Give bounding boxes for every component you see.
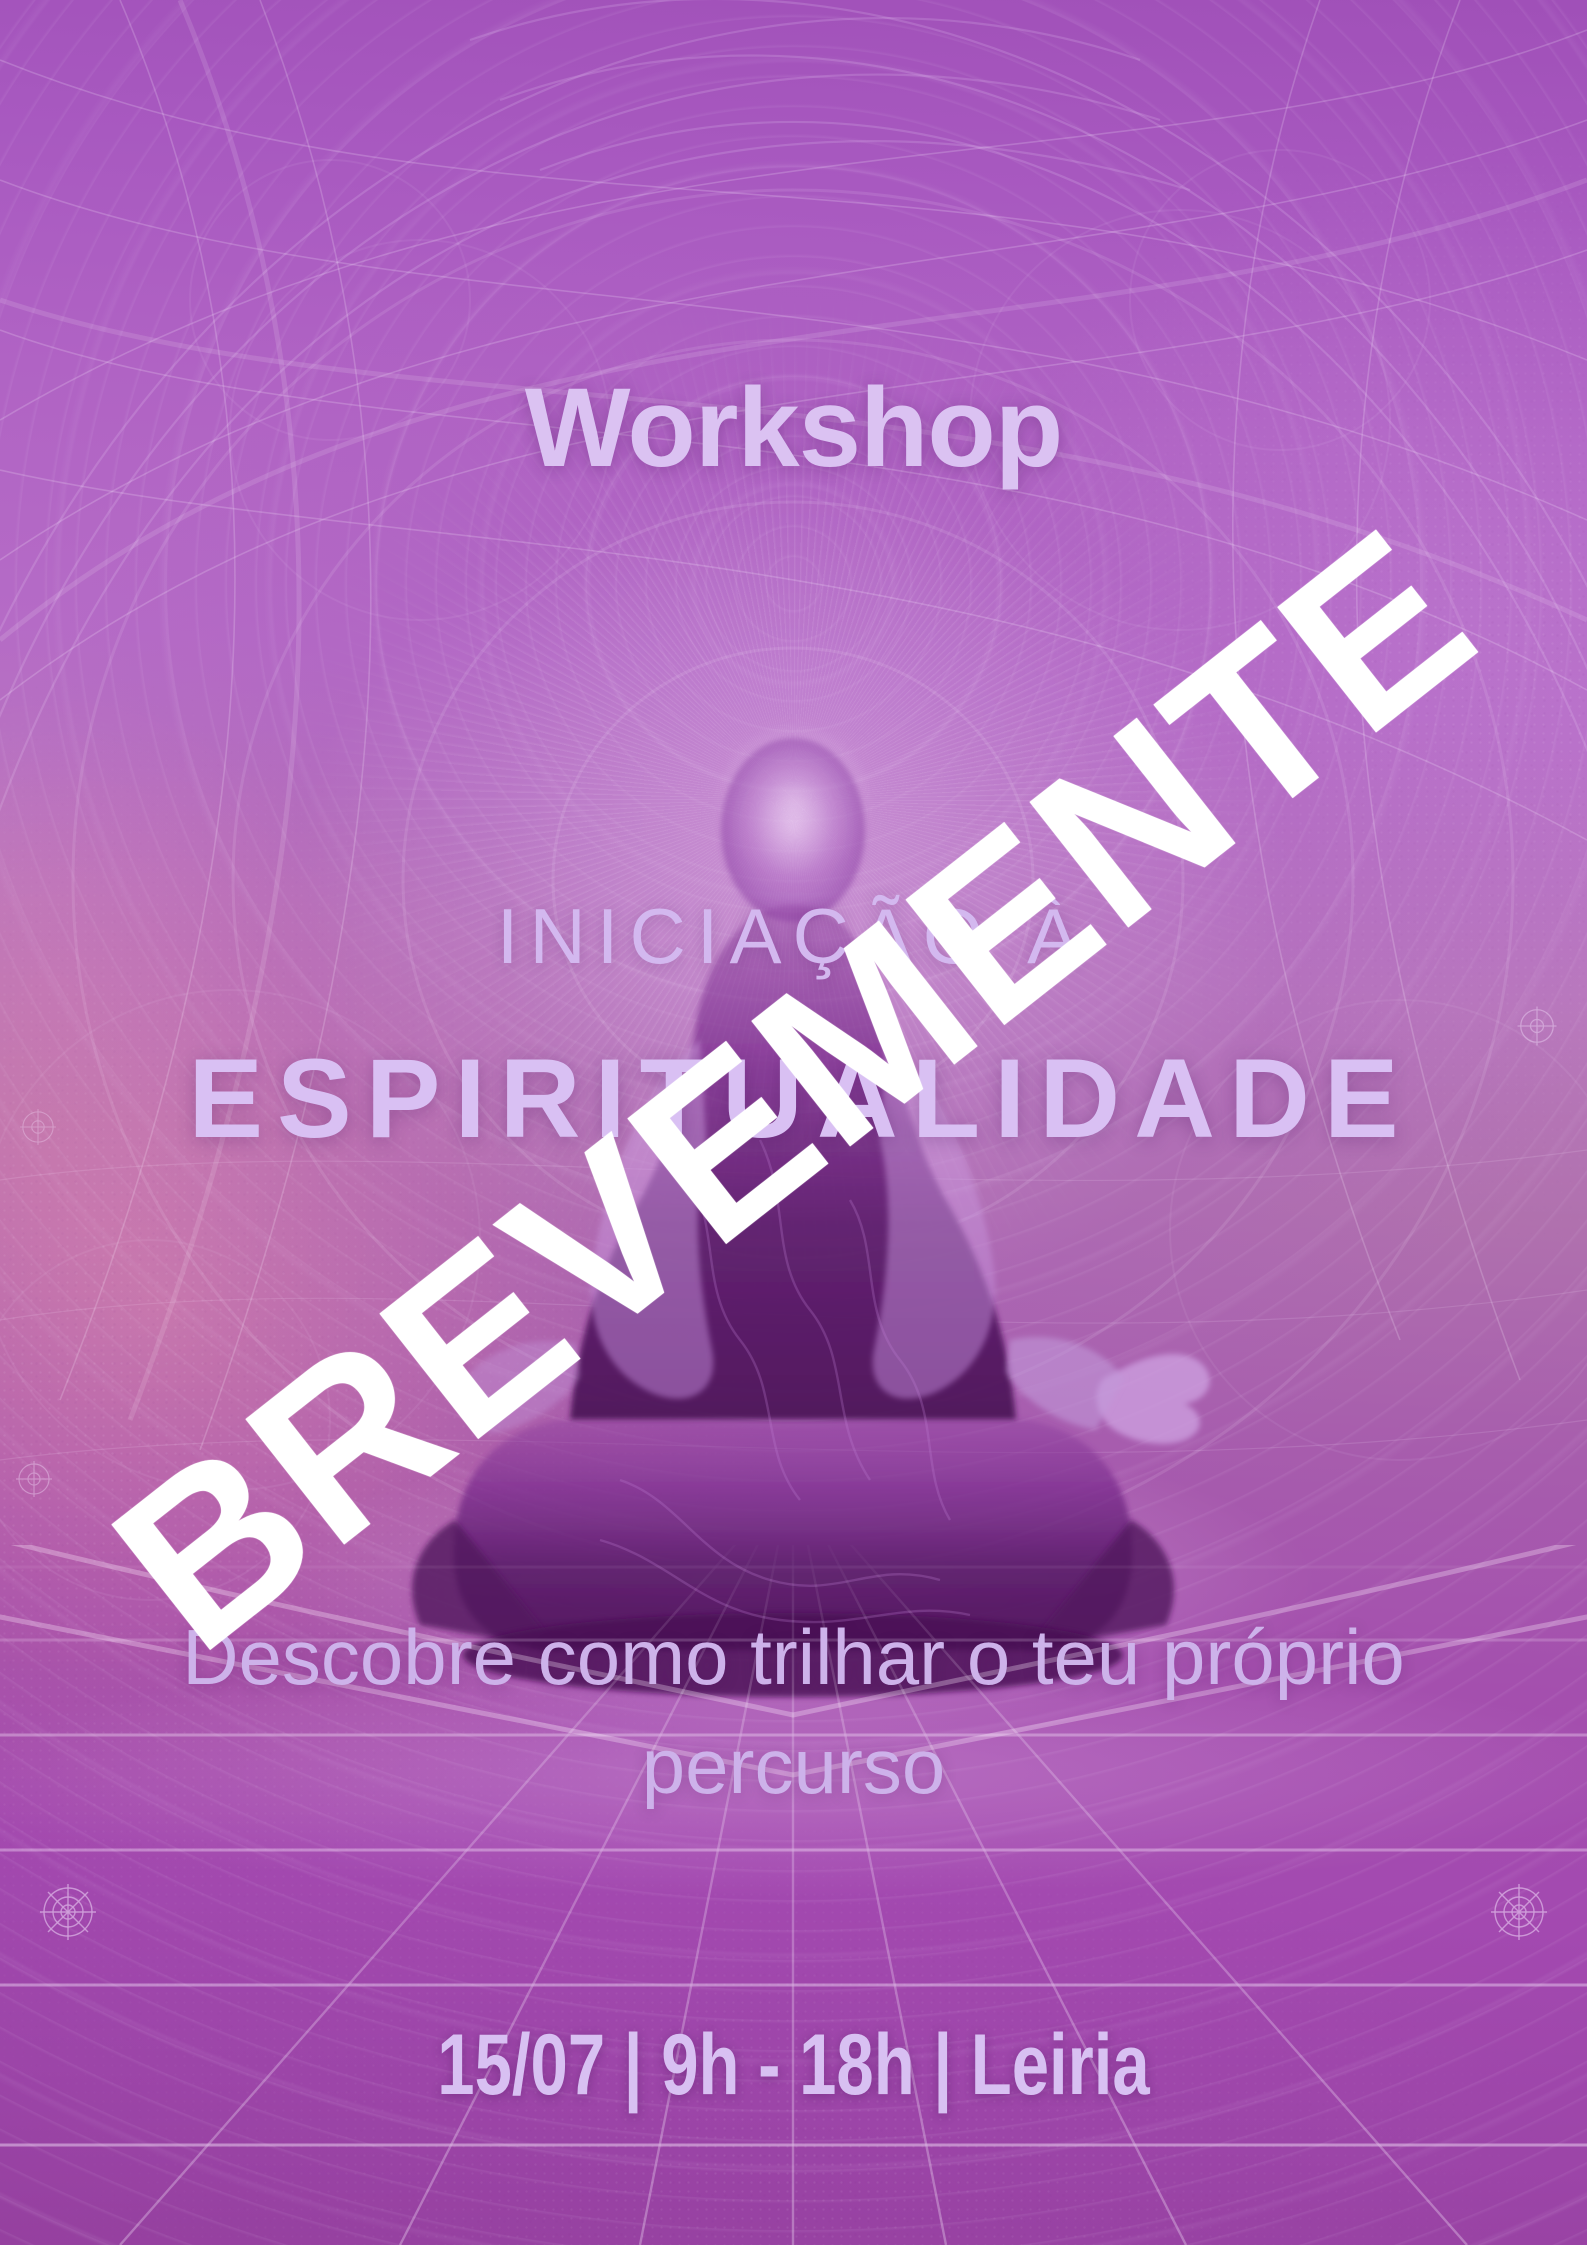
poster-canvas: Workshop INICIAÇÃO À ESPIRITUALIDADE Des… (0, 0, 1587, 2245)
poster-event-details: 15/07 | 9h - 18h | Leiria (175, 2022, 1413, 2108)
poster-kicker: Workshop (0, 372, 1587, 484)
